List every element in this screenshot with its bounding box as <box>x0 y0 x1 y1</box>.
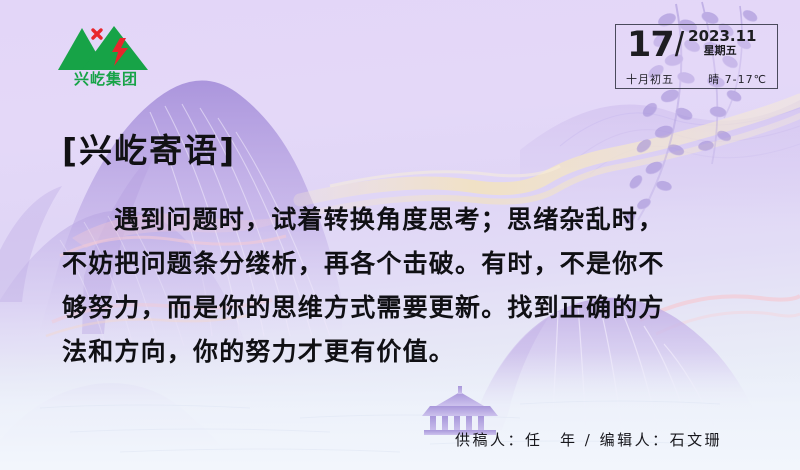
byline-credits: 供稿人：任 年 / 编辑人：石文珊 <box>455 429 722 450</box>
page-title: [兴屹寄语] <box>62 124 236 172</box>
twin-mountain-lightning-icon <box>52 24 160 72</box>
date-slash: / <box>675 27 684 63</box>
date-card: 17 / 2023.11 星期五 十月初五 晴 7-17℃ <box>615 24 778 89</box>
date-card-bottom-row: 十月初五 晴 7-17℃ <box>616 69 777 89</box>
company-logo: 兴屹集团 <box>52 24 160 96</box>
body-line: 不妨把问题条分缕析，再各个击破。有时，不是你不 <box>62 242 752 286</box>
message-body: 遇到问题时，试着转换角度思考；思绪杂乱时， 不妨把问题条分缕析，再各个击破。有时… <box>62 198 752 374</box>
weather-info: 晴 7-17℃ <box>708 71 767 87</box>
date-day-number: 17 <box>627 27 674 63</box>
poster-canvas: 兴屹集团 17 / 2023.11 星期五 十月初五 晴 7-17℃ [兴屹寄语… <box>0 0 800 470</box>
pavilion-icon <box>422 386 498 435</box>
lunar-date: 十月初五 <box>626 71 674 87</box>
body-line: 够努力，而是你的思维方式需要更新。找到正确的方 <box>62 286 752 330</box>
body-line: 遇到问题时，试着转换角度思考；思绪杂乱时， <box>62 198 752 242</box>
date-year-month-group: 2023.11 星期五 <box>688 28 752 58</box>
date-card-top-row: 17 / 2023.11 星期五 <box>616 27 777 67</box>
body-line: 法和方向，你的努力才更有价值。 <box>62 330 752 374</box>
date-year-month: 2023.11 <box>688 28 752 45</box>
date-weekday: 星期五 <box>688 45 752 58</box>
logo-company-name: 兴屹集团 <box>52 68 160 89</box>
